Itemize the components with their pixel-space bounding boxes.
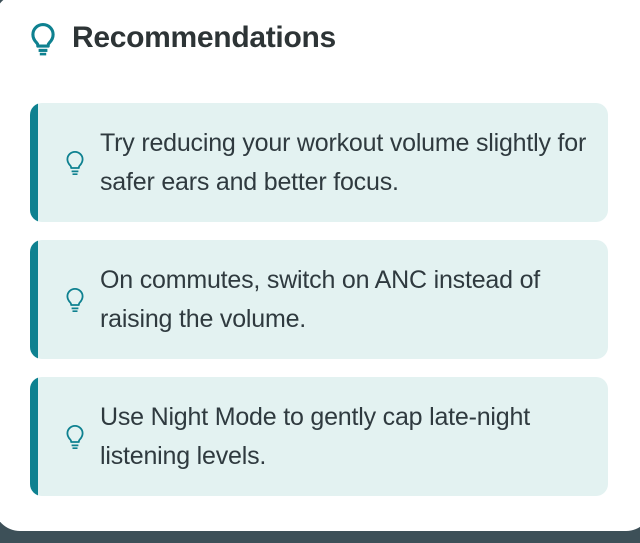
- lightbulb-icon: [64, 424, 86, 450]
- panel-header: Recommendations: [28, 20, 336, 56]
- page-title: Recommendations: [72, 23, 336, 53]
- recommendation-text: Use Night Mode to gently cap late-night …: [100, 398, 608, 476]
- recommendation-card[interactable]: On commutes, switch on ANC instead of ra…: [30, 240, 608, 359]
- recommendation-card[interactable]: Use Night Mode to gently cap late-night …: [30, 377, 608, 496]
- lightbulb-icon: [64, 287, 86, 313]
- lightbulb-icon: [64, 150, 86, 176]
- recommendation-text: On commutes, switch on ANC instead of ra…: [100, 261, 608, 339]
- recommendation-text: Try reducing your workout volume slightl…: [100, 124, 608, 202]
- card-accent-bar: [30, 103, 38, 222]
- recommendations-panel: Recommendations Try reducing your workou…: [0, 0, 640, 531]
- card-accent-bar: [30, 377, 38, 496]
- recommendation-card[interactable]: Try reducing your workout volume slightl…: [30, 103, 608, 222]
- recommendations-list: Try reducing your workout volume slightl…: [30, 103, 608, 514]
- card-accent-bar: [30, 240, 38, 359]
- lightbulb-icon: [28, 22, 58, 56]
